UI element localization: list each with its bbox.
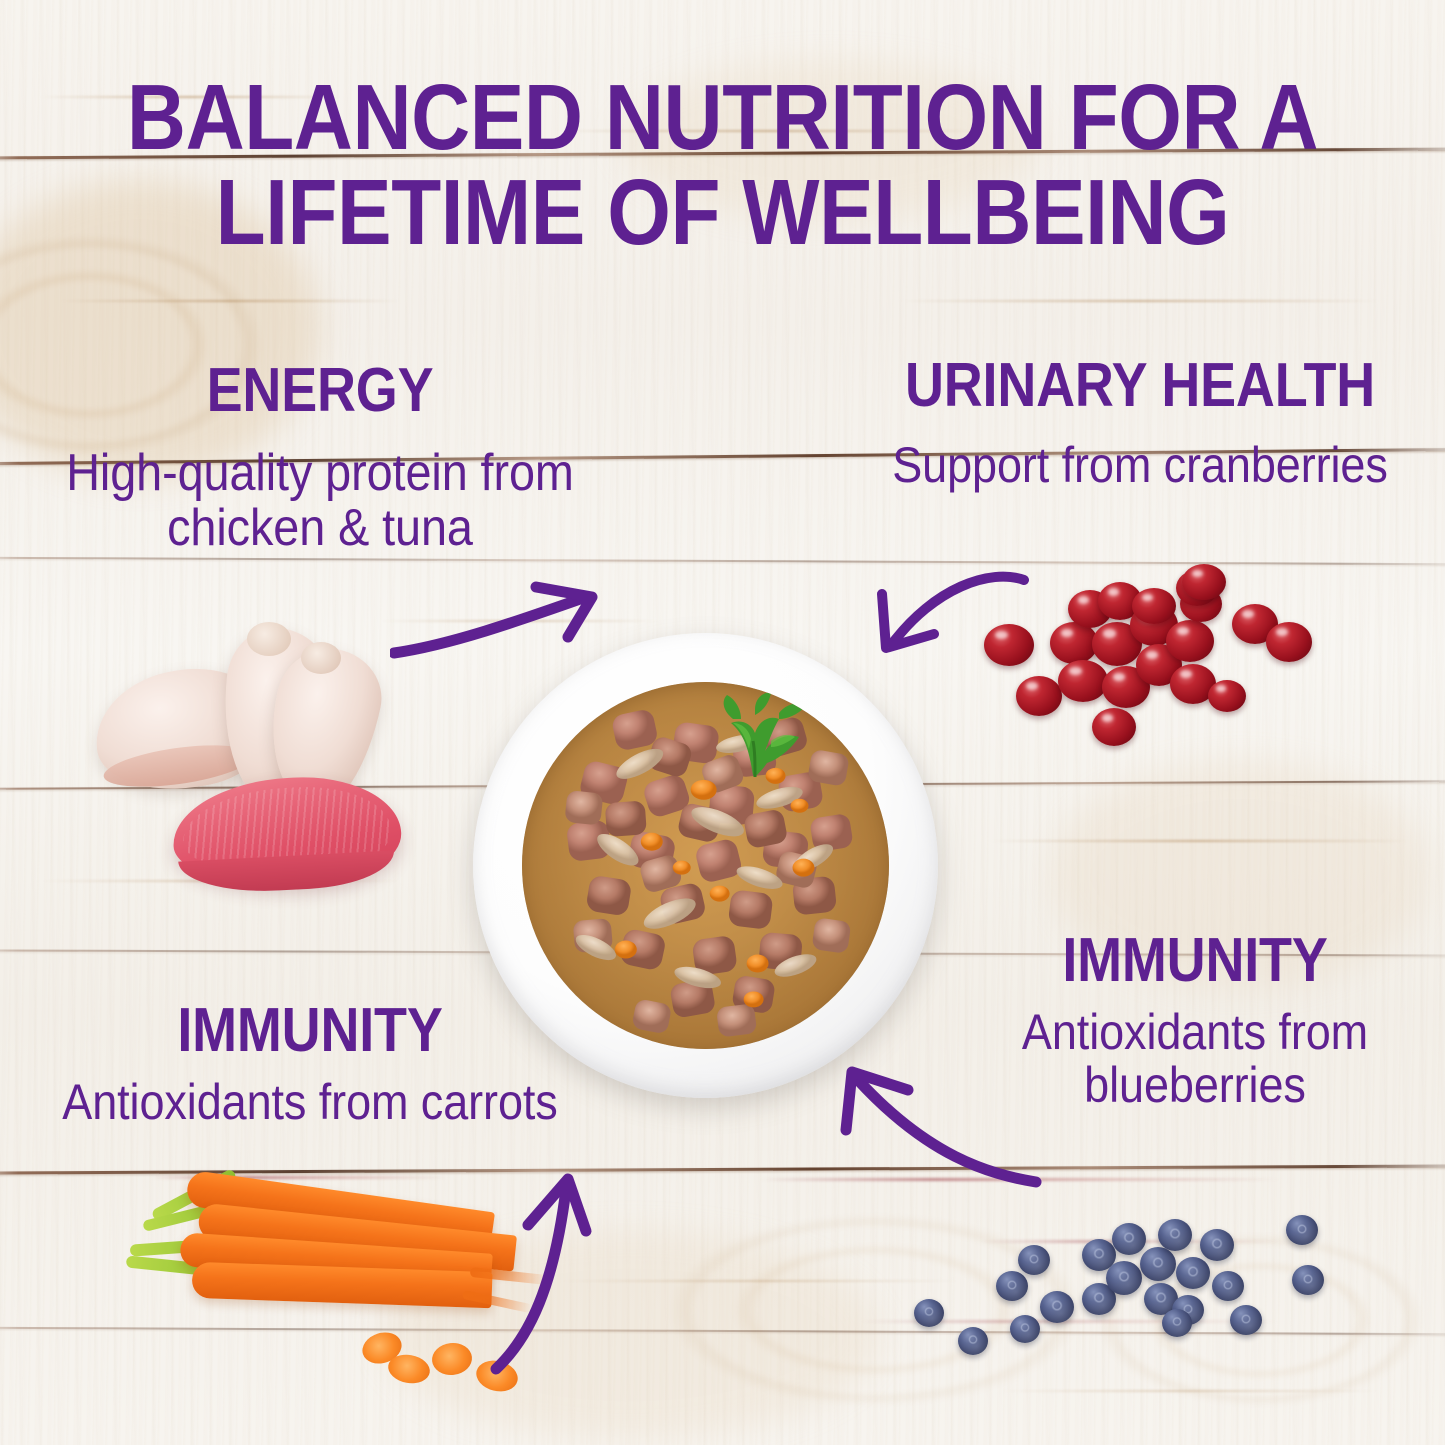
benefit-immunity-blueberries-desc-line1: Antioxidants from [970, 1006, 1420, 1059]
cranberry [1182, 564, 1226, 600]
wood-stain [760, 1178, 1280, 1181]
cranberry [984, 624, 1034, 666]
blueberry [1230, 1305, 1262, 1335]
benefit-energy-desc-line2: chicken & tuna [32, 501, 608, 556]
carrot-slice [473, 1356, 521, 1395]
blueberry [914, 1299, 944, 1327]
headline-line-1: BALANCED NUTRITION FOR A [87, 70, 1359, 165]
benefit-immunity-blueberries-desc-line2: blueberries [970, 1059, 1420, 1112]
blueberry [1176, 1257, 1210, 1289]
blueberry [1140, 1247, 1176, 1281]
blueberry [1292, 1265, 1324, 1295]
blueberry [1106, 1261, 1142, 1295]
chicken-and-tuna-photo [95, 618, 425, 938]
wood-streak [990, 840, 1410, 842]
cranberry [1166, 620, 1214, 662]
headline-line-2: LIFETIME OF WELLBEING [87, 165, 1359, 260]
cranberry [1058, 660, 1108, 702]
cranberries-photo [980, 560, 1340, 740]
blueberry [1010, 1315, 1040, 1343]
carrot-slice [386, 1352, 432, 1387]
wood-streak [1000, 1390, 1380, 1392]
benefit-immunity-blueberries: IMMUNITY Antioxidants from blueberries [945, 930, 1445, 1112]
benefit-immunity-blueberries-title: IMMUNITY [978, 930, 1413, 992]
benefit-energy-title: ENERGY [42, 360, 599, 422]
bowl-of-cat-food [473, 633, 938, 1098]
chicken-bone-knuckle [301, 642, 341, 674]
blueberry [1162, 1309, 1192, 1337]
cranberry [1016, 676, 1062, 716]
blueberry [958, 1327, 988, 1355]
blueberry [1286, 1215, 1318, 1245]
parsley-sprig [683, 689, 823, 779]
benefit-urinary-health-title: URINARY HEALTH [875, 355, 1406, 417]
wood-streak [60, 300, 400, 302]
blueberry [996, 1271, 1028, 1301]
food-area [522, 682, 889, 1049]
benefit-urinary-health: URINARY HEALTH Support from cranberries [835, 355, 1445, 492]
blueberry [1158, 1219, 1192, 1251]
product-benefits-infographic: BALANCED NUTRITION FOR A LIFETIME OF WEL… [0, 0, 1445, 1445]
benefit-urinary-health-desc-line1: Support from cranberries [866, 439, 1415, 492]
wood-streak [900, 300, 1380, 302]
benefit-energy-desc-line1: High-quality protein from [32, 446, 608, 501]
blueberry [1112, 1223, 1146, 1255]
cranberry [1266, 622, 1312, 662]
page-title: BALANCED NUTRITION FOR A LIFETIME OF WEL… [87, 70, 1359, 260]
cranberry [1092, 708, 1136, 746]
cranberry [1132, 588, 1176, 624]
cranberry [1050, 622, 1098, 664]
carrots-photo [140, 1175, 560, 1440]
chicken-bone-knuckle [247, 622, 291, 656]
blueberry [1200, 1229, 1234, 1261]
blueberry [1040, 1291, 1074, 1323]
cranberry [1208, 680, 1246, 712]
benefit-energy: ENERGY High-quality protein from chicken… [0, 360, 640, 556]
blueberry [1212, 1271, 1244, 1301]
blueberry [1018, 1245, 1050, 1275]
blueberries-photo [900, 1195, 1330, 1380]
carrot-slice [430, 1341, 473, 1377]
